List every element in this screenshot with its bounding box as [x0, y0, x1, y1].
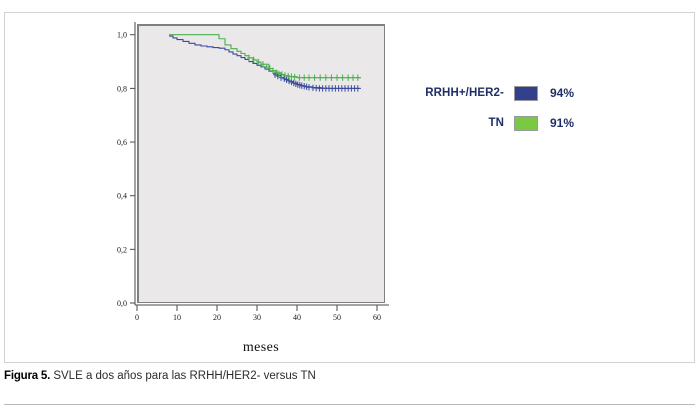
legend-row: RRHH+/HER2- 94% — [406, 78, 586, 108]
svg-text:40: 40 — [293, 313, 301, 322]
svg-text:20: 20 — [213, 313, 221, 322]
svg-text:30: 30 — [253, 313, 261, 322]
figure-caption-text: SVLE a dos años para las RRHH/HER2- vers… — [50, 370, 316, 382]
svg-text:0,8: 0,8 — [117, 84, 127, 93]
svg-text:10: 10 — [173, 313, 181, 322]
survival-curve-tn — [169, 35, 361, 78]
bottom-divider — [4, 404, 695, 405]
svg-text:60: 60 — [373, 313, 381, 322]
legend-percent-rrhh-her2: 94% — [550, 86, 574, 100]
legend-swatch-rrhh-her2 — [514, 86, 538, 101]
figure-root: 0,00,20,40,60,81,00102030405060 meses RR… — [0, 0, 700, 415]
svg-text:0,6: 0,6 — [117, 138, 127, 147]
legend-swatch-tn — [514, 116, 538, 131]
svg-text:0,4: 0,4 — [117, 192, 127, 201]
svg-text:50: 50 — [333, 313, 341, 322]
chart-legend: RRHH+/HER2- 94% TN 91% — [406, 78, 586, 138]
svg-text:0,0: 0,0 — [117, 299, 127, 308]
legend-percent-tn: 91% — [550, 116, 574, 130]
survival-curve-rrhh-her2- — [169, 36, 361, 88]
svg-text:0: 0 — [135, 313, 139, 322]
axis-layer: 0,00,20,40,60,81,00102030405060 — [117, 22, 389, 322]
censor-marks-tn — [247, 55, 360, 81]
kaplan-meier-chart: 0,00,20,40,60,81,00102030405060 — [108, 18, 408, 358]
censor-marks-rrhh-her2- — [273, 72, 360, 92]
legend-label-rrhh-her2: RRHH+/HER2- — [406, 87, 504, 99]
series-layer — [169, 35, 361, 92]
x-axis-title: meses — [137, 340, 385, 356]
figure-caption-label: Figura 5. — [4, 370, 50, 382]
legend-label-tn: TN — [406, 117, 504, 129]
svg-text:1,0: 1,0 — [117, 31, 127, 40]
figure-caption: Figura 5. SVLE a dos años para las RRHH/… — [4, 370, 694, 382]
svg-text:0,2: 0,2 — [117, 245, 127, 254]
legend-row: TN 91% — [406, 108, 586, 138]
